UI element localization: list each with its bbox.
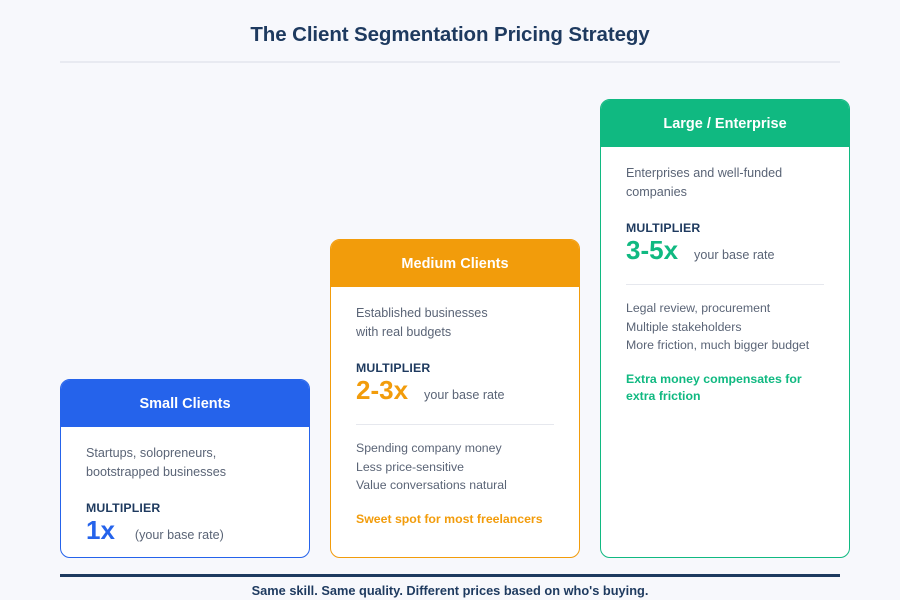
pricing-card-medium: Medium Clients Established businesses wi… (330, 239, 580, 558)
card-bullets-large: Legal review, procurement Multiple stake… (626, 299, 824, 355)
multiplier-row-small: 1x (your base rate) (86, 516, 284, 546)
card-header-medium: Medium Clients (331, 240, 579, 287)
card-highlight-large: Extra money compensates for extra fricti… (626, 371, 824, 406)
multiplier-value-medium: 2-3x (356, 376, 408, 406)
multiplier-row-large: 3-5x your base rate (626, 236, 824, 266)
card-body-medium: Established businesses with real budgets… (331, 287, 579, 557)
card-divider-medium (356, 424, 554, 425)
footer-caption: Same skill. Same quality. Different pric… (0, 583, 900, 598)
card-header-large: Large / Enterprise (601, 100, 849, 147)
multiplier-label-medium: MULTIPLIER (356, 361, 554, 375)
multiplier-row-medium: 2-3x your base rate (356, 376, 554, 406)
multiplier-note-medium: your base rate (424, 388, 505, 402)
multiplier-note-large: your base rate (694, 248, 775, 262)
card-bullets-medium: Spending company money Less price-sensit… (356, 439, 554, 495)
multiplier-note-small: (your base rate) (135, 528, 224, 542)
pricing-card-large: Large / Enterprise Enterprises and well-… (600, 99, 850, 558)
card-divider-large (626, 284, 824, 285)
title-divider (60, 61, 840, 63)
multiplier-value-small: 1x (86, 516, 115, 546)
pricing-card-small: Small Clients Startups, solopreneurs, bo… (60, 379, 310, 558)
card-highlight-medium: Sweet spot for most freelancers (356, 511, 554, 529)
multiplier-value-large: 3-5x (626, 236, 678, 266)
multiplier-label-small: MULTIPLIER (86, 501, 284, 515)
card-description-large: Enterprises and well-funded companies (626, 164, 824, 202)
card-body-small: Startups, solopreneurs, bootstrapped bus… (61, 427, 309, 558)
page-title: The Client Segmentation Pricing Strategy (0, 23, 900, 47)
multiplier-label-large: MULTIPLIER (626, 221, 824, 235)
card-body-large: Enterprises and well-funded companies MU… (601, 147, 849, 557)
card-header-small: Small Clients (61, 380, 309, 427)
footer-divider (60, 574, 840, 577)
card-description-medium: Established businesses with real budgets (356, 304, 554, 342)
card-description-small: Startups, solopreneurs, bootstrapped bus… (86, 444, 284, 482)
